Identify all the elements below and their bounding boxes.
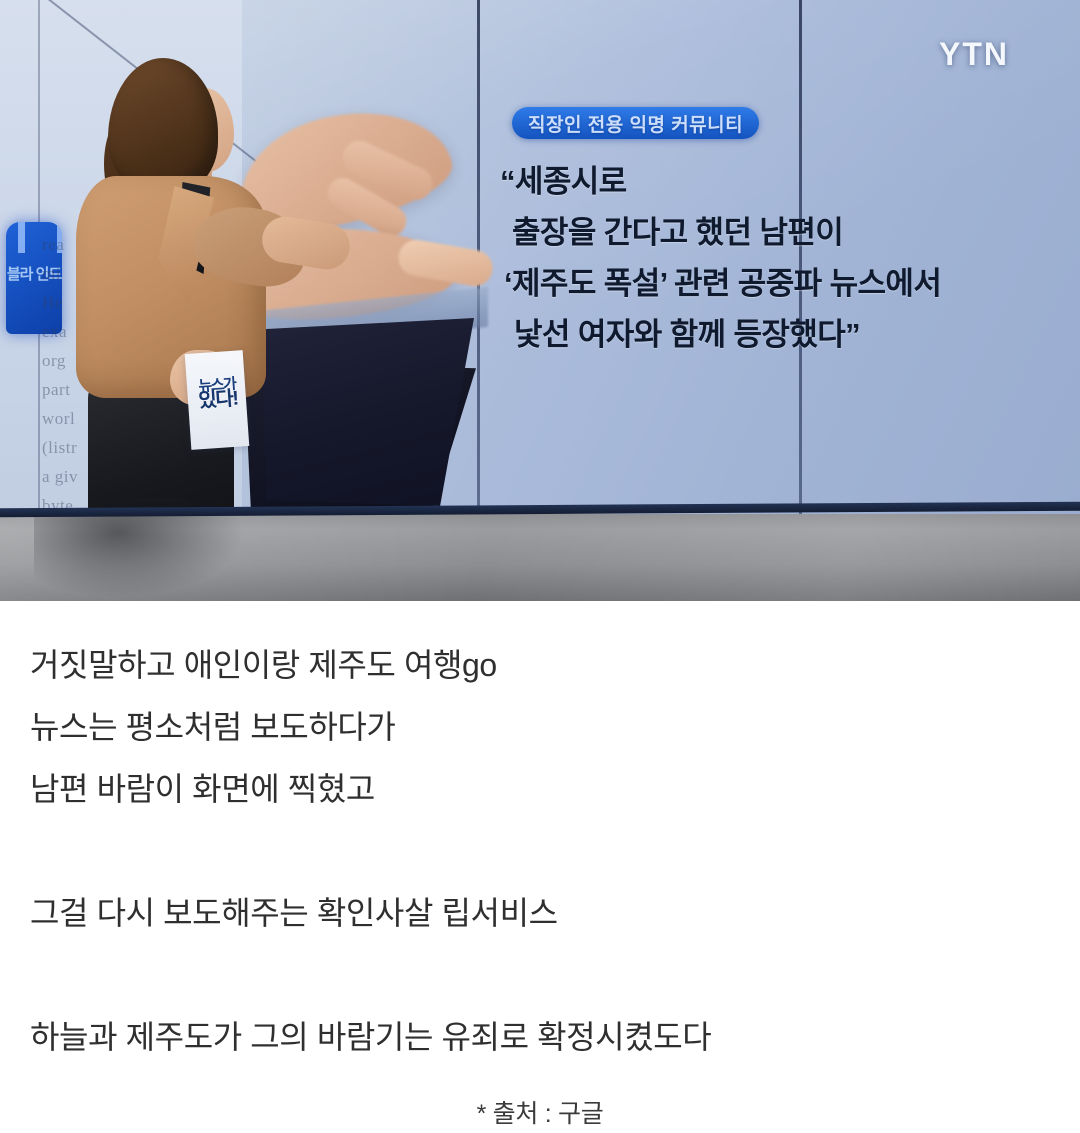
program-logo-line2: 있다! [194, 391, 243, 409]
caption-area: 거짓말하고 애인이랑 제주도 여행go 뉴스는 평소처럼 보도하다가 남편 바람… [0, 601, 1080, 1133]
ytn-channel-logo: YTN [939, 36, 1009, 73]
news-anchor [66, 58, 276, 518]
caption-line-2: 뉴스는 평소처럼 보도하다가 [30, 696, 1040, 758]
community-badge-label: 직장인 전용 익명 커뮤니티 [528, 110, 743, 137]
on-screen-quote: “세종시로 출장을 간다고 했던 남편이 ‘제주도 폭설’ 관련 공중파 뉴스에… [500, 156, 1040, 360]
caption-text-block: 거짓말하고 애인이랑 제주도 여행go 뉴스는 평소처럼 보도하다가 남편 바람… [30, 634, 1040, 1068]
caption-spacer-2 [30, 944, 1040, 1006]
quote-line-2: 출장을 간다고 했던 남편이 [500, 207, 1040, 258]
laptop-screen [262, 318, 474, 506]
caption-line-1: 거짓말하고 애인이랑 제주도 여행go [30, 634, 1040, 696]
anchor-cue-card: 뉴스가 있다! [185, 350, 250, 450]
caption-spacer-1 [30, 820, 1040, 882]
source-credit: * 출처 : 구글 [0, 1094, 1080, 1130]
community-badge: 직장인 전용 익명 커뮤니티 [512, 107, 759, 139]
screenshot-root: 블라 인드 rea mi He exa org part worl (listr… [0, 0, 1080, 1133]
caption-line-5: 하늘과 제주도가 그의 바람기는 유죄로 확정시켰도다 [30, 1006, 1040, 1068]
program-logo: 뉴스가 있다! [193, 376, 243, 409]
anchor-hair [108, 58, 218, 194]
broadcast-still-image: 블라 인드 rea mi He exa org part worl (listr… [0, 0, 1080, 601]
caption-line-4: 그걸 다시 보도해주는 확인사살 립서비스 [30, 882, 1040, 944]
quote-line-4: 낯선 여자와 함께 등장했다” [500, 309, 1040, 360]
quote-line-3: ‘제주도 폭설’ 관련 공중파 뉴스에서 [500, 258, 1040, 309]
caption-line-3: 남편 바람이 화면에 찍혔고 [30, 758, 1040, 820]
anchor-floor-shadow [34, 516, 244, 598]
quote-line-1: “세종시로 [500, 156, 1040, 207]
